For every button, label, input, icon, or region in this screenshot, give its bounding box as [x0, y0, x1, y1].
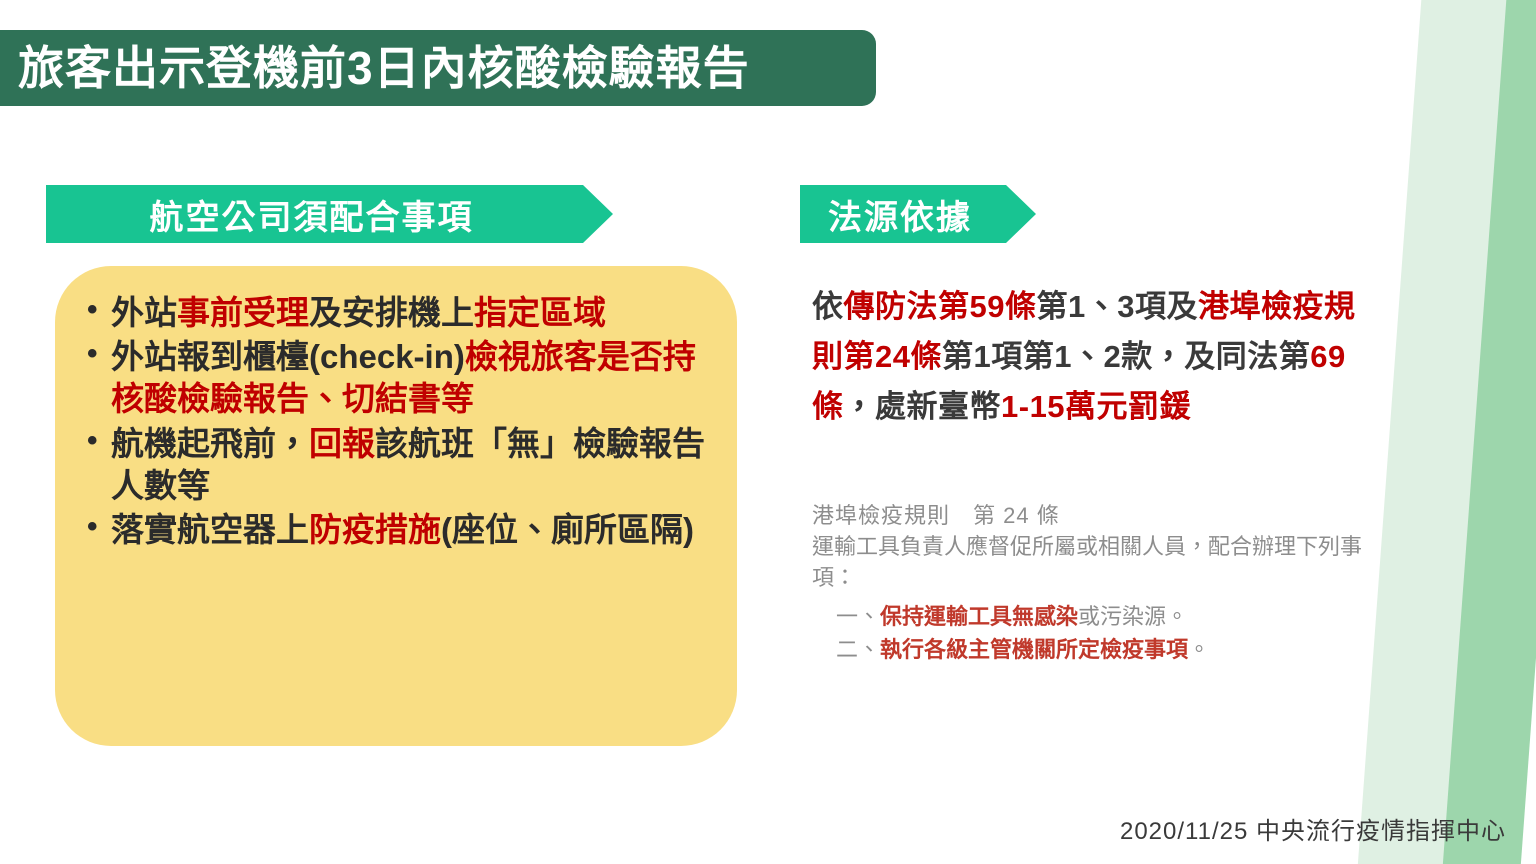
- legal-note-item-marker: 二、: [836, 637, 880, 662]
- legal-note-item: 二、執行各級主管機關所定檢疫事項。: [812, 633, 1392, 666]
- section-header-airline-label: 航空公司須配合事項: [150, 190, 474, 239]
- plain-text: 及安排機上: [309, 294, 474, 331]
- legal-note-title: 港埠檢疫規則 第 24 條: [812, 500, 1392, 531]
- airline-requirement-item: 航機起飛前，回報該航班「無」檢驗報告人數等: [85, 423, 715, 507]
- airline-requirements-card: 外站事前受理及安排機上指定區域外站報到櫃檯(check-in)檢視旅客是否持核酸…: [55, 266, 737, 746]
- legal-note-item: 一、保持運輸工具無感染或污染源。: [812, 600, 1392, 633]
- legal-note-item-marker: 一、: [836, 604, 880, 629]
- highlighted-text: 回報: [309, 425, 375, 462]
- legal-basis-text: 依傳防法第59條第1、3項及港埠檢疫規則第24條第1項第1、2款，及同法第69條…: [812, 282, 1384, 433]
- section-header-airline: 航空公司須配合事項: [46, 185, 583, 243]
- section-header-legal: 法源依據: [800, 185, 1006, 243]
- page-title: 旅客出示登機前3日內核酸檢驗報告: [18, 45, 750, 91]
- airline-requirements-list: 外站事前受理及安排機上指定區域外站報到櫃檯(check-in)檢視旅客是否持核酸…: [85, 292, 715, 551]
- slide-title-bar: 旅客出示登機前3日內核酸檢驗報告: [0, 30, 876, 106]
- highlighted-text: 指定區域: [474, 294, 606, 331]
- slide-canvas: 旅客出示登機前3日內核酸檢驗報告 航空公司須配合事項 法源依據 外站事前受理及安…: [0, 0, 1536, 864]
- highlighted-text: 保持運輸工具無感染: [880, 604, 1078, 629]
- highlighted-text: 防疫措施: [309, 511, 441, 548]
- plain-text: 或污染源。: [1078, 604, 1188, 629]
- section-header-legal-label: 法源依據: [828, 190, 972, 239]
- plain-text: 外站: [111, 294, 177, 331]
- highlighted-text: 傳防法第59條: [844, 289, 1037, 324]
- highlighted-text: 事前受理: [177, 294, 309, 331]
- decorative-stripe-green: [1436, 0, 1536, 864]
- slide-footer: 2020/11/25 中央流行疫情指揮中心: [1120, 811, 1506, 846]
- plain-text: 。: [1188, 637, 1210, 662]
- airline-requirement-item: 外站事前受理及安排機上指定區域: [85, 292, 715, 334]
- airline-requirement-item: 落實航空器上防疫措施(座位、廁所區隔): [85, 509, 715, 551]
- legal-note-items: 一、保持運輸工具無感染或污染源。二、執行各級主管機關所定檢疫事項。: [812, 600, 1392, 667]
- plain-text: 落實航空器上: [111, 511, 309, 548]
- highlighted-text: 執行各級主管機關所定檢疫事項: [880, 637, 1188, 662]
- plain-text: 外站報到櫃檯(check-in): [111, 338, 465, 375]
- airline-requirement-item: 外站報到櫃檯(check-in)檢視旅客是否持核酸檢驗報告、切結書等: [85, 336, 715, 420]
- plain-text: 第1項第1、2款，及同法第: [942, 339, 1310, 374]
- plain-text: ，處新臺幣: [844, 389, 1002, 424]
- legal-note-body: 運輸工具負責人應督促所屬或相關人員，配合辦理下列事項：: [812, 531, 1392, 593]
- legal-note-block: 港埠檢疫規則 第 24 條 運輸工具負責人應督促所屬或相關人員，配合辦理下列事項…: [812, 500, 1392, 667]
- plain-text: 航機起飛前，: [111, 425, 309, 462]
- plain-text: (座位、廁所區隔): [441, 511, 694, 548]
- plain-text: 依: [812, 289, 844, 324]
- plain-text: 第1、3項及: [1036, 289, 1197, 324]
- highlighted-text: 1-15萬元罰鍰: [1001, 389, 1191, 424]
